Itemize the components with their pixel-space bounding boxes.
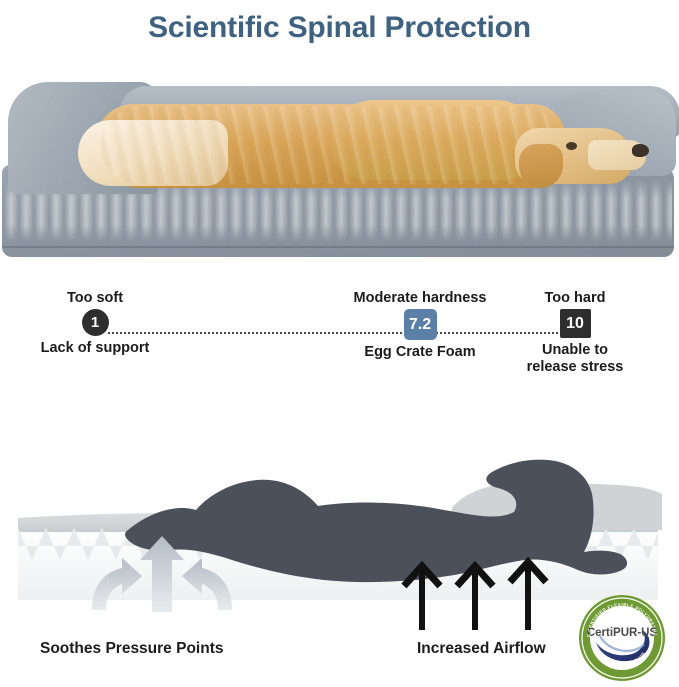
logo-brand-text: CertiPUR-US (587, 627, 658, 639)
page-title: Scientific Spinal Protection (148, 11, 531, 45)
product-photo (0, 60, 679, 265)
hardness-stop-top-label: Moderate hardness (354, 290, 487, 306)
page-title-bar: Scientific Spinal Protection (0, 0, 679, 56)
hardness-stop-bottom-label: Egg Crate Foam (364, 344, 475, 361)
hardness-stop-bottom-label: Lack of support (41, 340, 150, 357)
caption-increased-airflow: Increased Airflow (417, 640, 546, 658)
hardness-badge-72: 7.2 (404, 309, 437, 340)
dog-fur-texture (100, 106, 560, 184)
hardness-badge-1: 1 (82, 309, 109, 336)
certipur-us-logo: CertiPUR-US CONTAINS CERTIFIED FLEXIBLE … (578, 594, 666, 682)
caption-soothes-pressure-points: Soothes Pressure Points (40, 640, 223, 658)
hardness-stop-too-soft: Too soft 1 Lack of support (15, 290, 175, 357)
certipur-logo-svg: CertiPUR-US CONTAINS CERTIFIED FLEXIBLE … (578, 594, 666, 682)
hardness-stop-top-label: Too soft (67, 290, 123, 306)
bed-base-seam (2, 246, 674, 248)
hardness-stop-bottom-line2: release stress (527, 359, 624, 375)
dog-nose (632, 144, 649, 157)
dog-eye (566, 142, 577, 150)
hardness-stop-bottom-label: Unable to release stress (527, 342, 624, 375)
hardness-scale: Too soft 1 Lack of support Moderate hard… (0, 288, 679, 396)
hardness-badge-10: 10 (560, 309, 591, 338)
hardness-stop-moderate: Moderate hardness 7.2 Egg Crate Foam (340, 290, 500, 361)
hardness-stop-too-hard: Too hard 10 Unable to release stress (495, 290, 655, 375)
hardness-stop-bottom-line1: Unable to (542, 342, 608, 358)
hardness-stop-top-label: Too hard (545, 290, 606, 306)
